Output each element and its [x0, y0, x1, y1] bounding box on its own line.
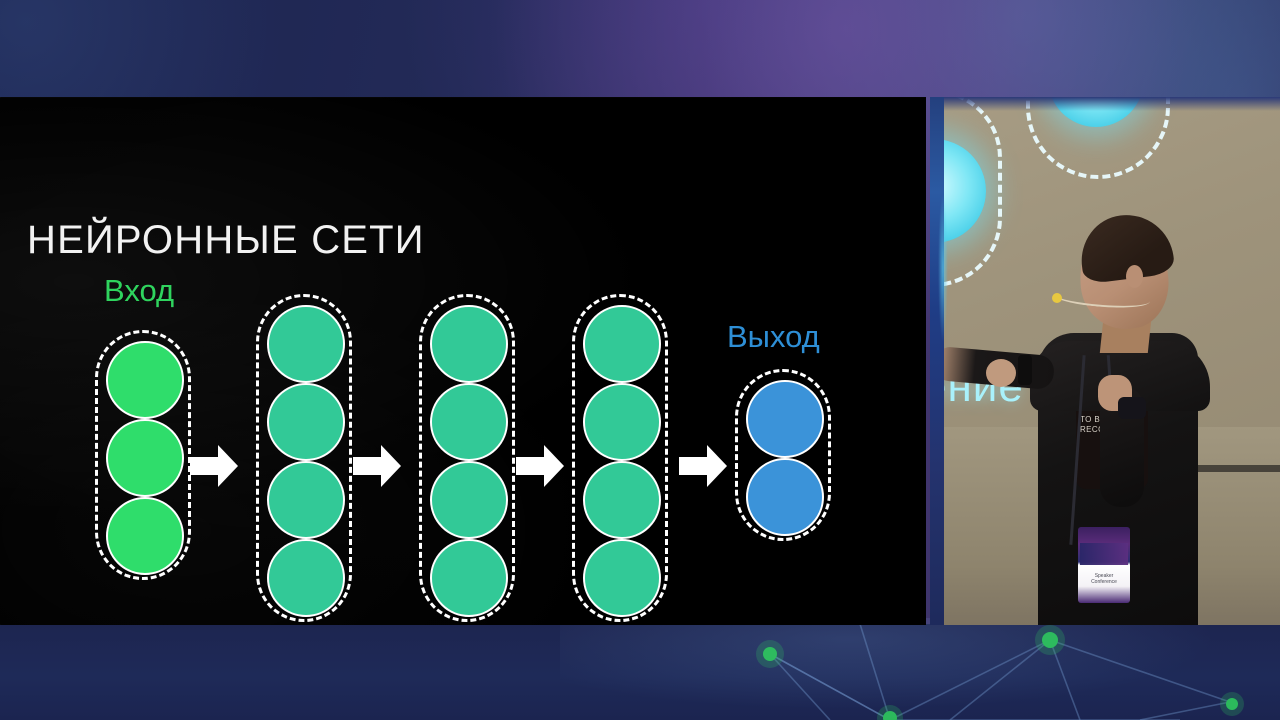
speaker-ear [1126, 265, 1143, 288]
input-layer-group [95, 330, 191, 580]
neuron-h3-1 [583, 305, 661, 383]
output-layer-group [735, 369, 831, 541]
neuron-h3-4 [583, 539, 661, 617]
headset-microphone-tip [1052, 293, 1062, 303]
neuron-h2-3 [430, 461, 508, 539]
badge-text-line-2: Conference [1082, 579, 1126, 585]
conference-badge-text: Speaker Conference [1082, 573, 1126, 585]
speaker-hand-left [986, 359, 1016, 387]
video-left-edge-glow [930, 97, 944, 625]
neuron-h1-3 [267, 461, 345, 539]
neuron-h2-4 [430, 539, 508, 617]
conference-badge [1078, 527, 1130, 603]
neuron-h3-2 [583, 383, 661, 461]
speaker-watch [1118, 397, 1146, 419]
neuron-h1-2 [267, 383, 345, 461]
neuron-input-2 [106, 419, 184, 497]
network-graphic [620, 624, 1280, 720]
slide-title: НЕЙРОННЫЕ СЕТИ [27, 218, 425, 263]
conference-badge-header [1080, 543, 1128, 565]
neuron-h3-3 [583, 461, 661, 539]
hidden-layer-3-group [572, 294, 668, 622]
input-layer-label: Вход [104, 273, 174, 309]
flow-arrow-1 [190, 445, 238, 487]
hidden-layer-2-group [419, 294, 515, 622]
neuron-input-3 [106, 497, 184, 575]
neuron-h2-1 [430, 305, 508, 383]
output-layer-label: Выход [727, 319, 820, 355]
speaker-wristband [1018, 355, 1032, 385]
video-edge-highlight [938, 193, 948, 343]
flow-arrow-3 [516, 445, 564, 487]
neuron-output-1 [746, 380, 824, 458]
screen-capture: НЕЙРОННЫЕ СЕТИ Вход Выход Промежуточное … [0, 0, 1280, 720]
neuron-input-1 [106, 341, 184, 419]
neuron-output-2 [746, 458, 824, 536]
neuron-h2-2 [430, 383, 508, 461]
hidden-layer-1-group [256, 294, 352, 622]
video-top-glow [930, 97, 1280, 111]
presentation-slide: НЕЙРОННЫЕ СЕТИ Вход Выход Промежуточное … [0, 97, 926, 625]
speaker-video-panel: ение TO BE RECOGNIZED Speaker Conference [930, 97, 1280, 625]
neuron-h1-1 [267, 305, 345, 383]
flow-arrow-4 [679, 445, 727, 487]
neuron-h1-4 [267, 539, 345, 617]
flow-arrow-2 [353, 445, 401, 487]
